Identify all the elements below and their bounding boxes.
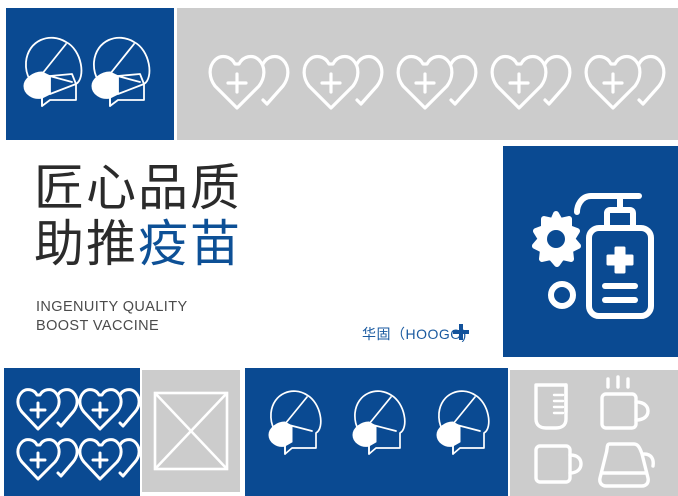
germ-icon (535, 214, 578, 264)
bottom-mask-panel (245, 368, 508, 496)
masked-head-icon-group (245, 368, 508, 496)
missing-image-icon (142, 370, 240, 492)
headline-line-2-blue: 疫苗 (138, 216, 242, 272)
masked-head-icon (24, 38, 81, 106)
plus-mark-icon (451, 322, 471, 347)
sanitizer-panel (503, 146, 678, 357)
double-heart-plus-icon (492, 57, 570, 108)
double-heart-plus-icon-group (4, 368, 140, 496)
cross-icon (451, 322, 471, 342)
headline-line-2-dark: 助推 (34, 216, 138, 272)
masked-head-icon (92, 38, 149, 106)
kettle-icon (600, 444, 653, 486)
headline-panel: 匠心品质 助推疫苗 INGENUITY QUALITY BOOST VACCIN… (0, 146, 500, 357)
virus-dot-icon (551, 284, 573, 306)
double-heart-plus-icon (18, 440, 77, 479)
headline-block: 匠心品质 助推疫苗 (34, 160, 242, 272)
lab-icon-group (510, 370, 678, 496)
double-heart-plus-icon (304, 57, 382, 108)
double-heart-plus-icon (586, 57, 664, 108)
mug-icon (536, 446, 581, 482)
double-heart-plus-icon-group (177, 8, 678, 140)
headline-line-1: 匠心品质 (34, 160, 242, 216)
subtitle-english: INGENUITY QUALITY BOOST VACCINE (36, 298, 188, 336)
poster-canvas: 匠心品质 助推疫苗 INGENUITY QUALITY BOOST VACCIN… (0, 0, 678, 496)
masked-head-icon (437, 391, 489, 454)
steaming-cup-icon (602, 377, 648, 428)
double-heart-plus-icon (18, 390, 77, 429)
top-heart-panel (177, 8, 678, 140)
masked-head-icon (269, 391, 321, 454)
double-heart-plus-icon (210, 57, 288, 108)
hand-sanitizer-icon-group (503, 146, 678, 357)
lab-icons-panel (510, 370, 678, 496)
masked-head-icon (353, 391, 405, 454)
top-mask-panel (6, 8, 174, 140)
double-heart-plus-icon (80, 440, 139, 479)
measuring-beaker-icon (536, 385, 566, 428)
sanitizer-bottle-icon (577, 196, 651, 316)
masked-head-icon-group (6, 8, 174, 140)
double-heart-plus-icon (80, 390, 139, 429)
bottom-heart-panel (4, 368, 140, 496)
image-placeholder-panel (142, 370, 240, 492)
double-heart-plus-icon (398, 57, 476, 108)
headline-line-2: 助推疫苗 (34, 216, 242, 272)
